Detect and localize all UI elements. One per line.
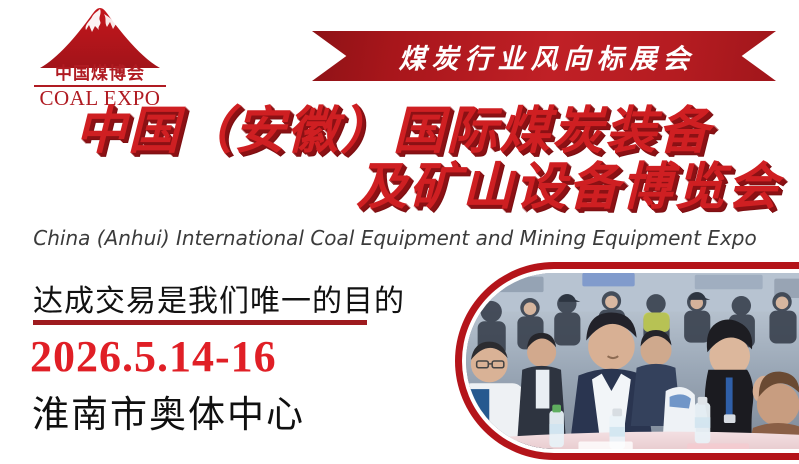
logo-chinese-name: 中国煤博会 bbox=[24, 64, 176, 85]
audience-photo bbox=[466, 273, 799, 449]
coal-expo-logo: 中国煤博会 COAL EXPO bbox=[24, 6, 176, 108]
ribbon-text: 煤炭行业风向标展会 bbox=[393, 37, 696, 76]
event-date: 2026.5.14‑16 bbox=[30, 331, 277, 382]
expo-poster: 中国煤博会 COAL EXPO 煤炭行业风向标展会 中国（安徽）国际煤炭装备 及… bbox=[0, 0, 799, 464]
title-line-1: 中国（安徽）国际煤炭装备 bbox=[0, 104, 790, 160]
conference-audience-illustration bbox=[466, 273, 799, 449]
main-title: 中国（安徽）国际煤炭装备 及矿山设备博览会 bbox=[0, 104, 790, 216]
english-subtitle: China (Anhui) International Coal Equipme… bbox=[0, 226, 790, 250]
slogan-underline bbox=[33, 320, 367, 325]
event-venue: 淮南市奥体中心 bbox=[32, 384, 305, 438]
red-mountain-icon bbox=[24, 6, 176, 70]
title-line-2: 及矿山设备博览会 bbox=[0, 160, 790, 216]
tagline-ribbon: 煤炭行业风向标展会 bbox=[312, 31, 776, 81]
slogan-text: 达成交易是我们唯一的目的 bbox=[33, 276, 405, 320]
audience-photo-frame bbox=[455, 262, 799, 460]
